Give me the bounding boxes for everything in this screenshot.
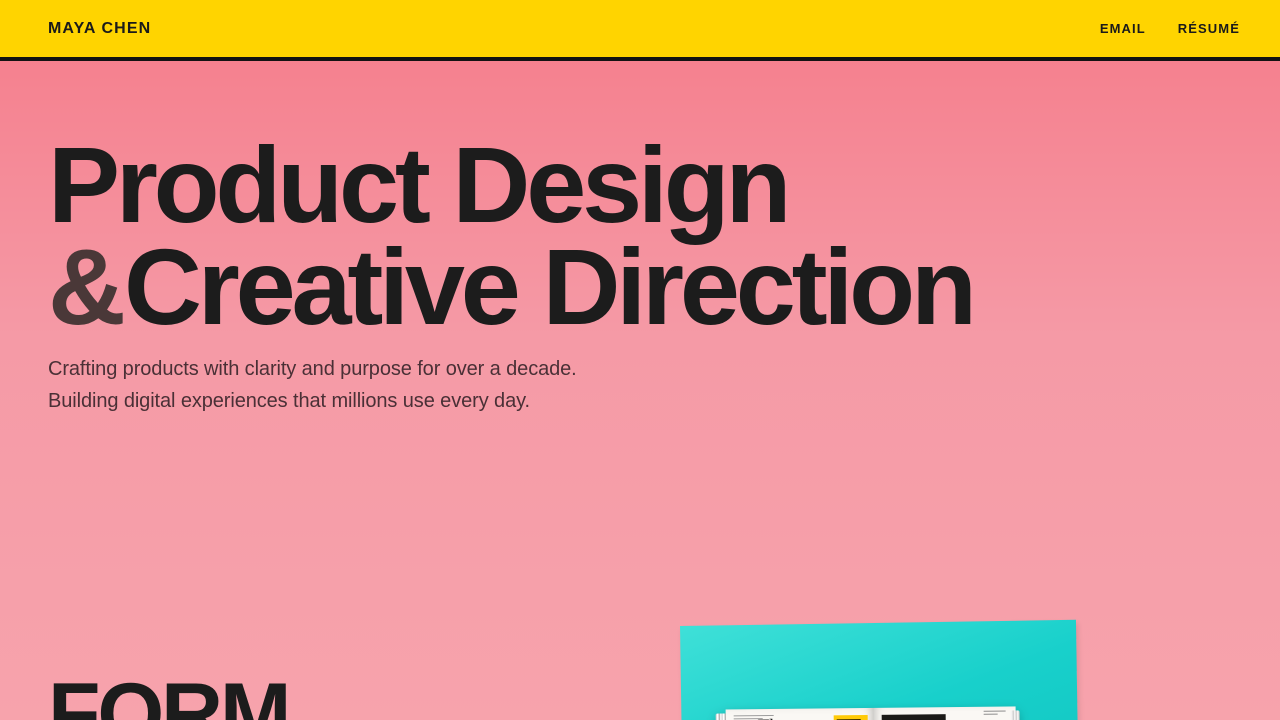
headline-line-1: Product Design <box>48 134 973 236</box>
magazine-page-edges-right <box>1011 710 1021 720</box>
hero-subtitle: Crafting products with clarity and purpo… <box>48 353 577 417</box>
magazine-dark-illustration-panel <box>882 714 947 720</box>
site-header: MAYA CHEN EMAIL RÉSUMÉ <box>0 0 1280 61</box>
teal-paper-sheet <box>680 620 1078 720</box>
magazine-page-header-lines <box>984 711 1006 718</box>
brand-wordmark[interactable]: MAYA CHEN <box>48 21 151 37</box>
hero-section: Product Design &Creative Direction Craft… <box>0 61 1280 720</box>
headline-line-2-text: Creative Direction <box>124 226 973 347</box>
headline-ampersand: & <box>48 226 124 347</box>
portfolio-landing-page: MAYA CHEN EMAIL RÉSUMÉ Product Design &C… <box>0 0 1280 720</box>
subtitle-line-1: Crafting products with clarity and purpo… <box>48 353 577 385</box>
hero-headline: Product Design &Creative Direction <box>48 134 973 337</box>
subtitle-line-2: Building digital experiences that millio… <box>48 385 577 417</box>
open-magazine: The ZIN <box>716 706 1017 720</box>
section-heading-form: FORM <box>48 671 288 720</box>
nav-link-resume[interactable]: RÉSUMÉ <box>1178 22 1240 35</box>
magazine-yellow-sidebar <box>834 715 869 720</box>
headline-line-2: &Creative Direction <box>48 236 973 338</box>
main-navigation: EMAIL RÉSUMÉ <box>1100 22 1240 35</box>
nav-link-email[interactable]: EMAIL <box>1100 22 1146 35</box>
magazine-photo: The ZIN <box>676 564 1076 720</box>
